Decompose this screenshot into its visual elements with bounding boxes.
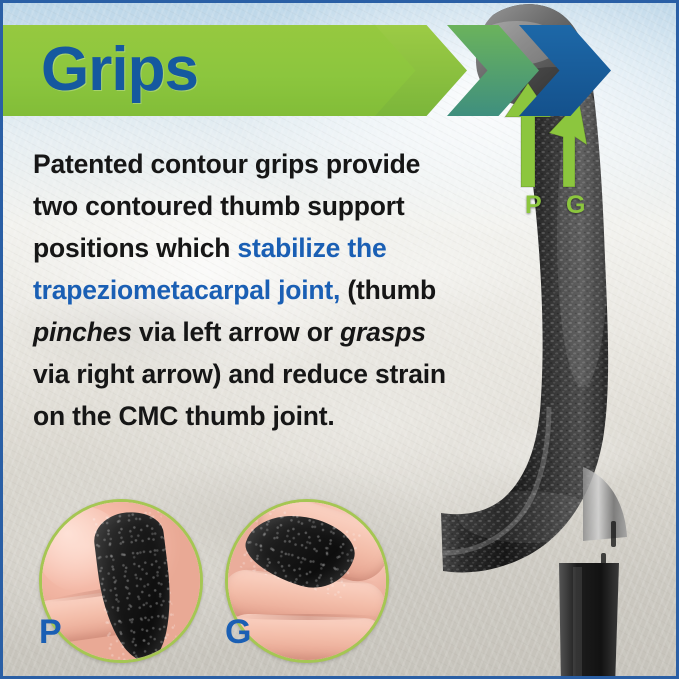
- page-title: Grips: [41, 38, 198, 100]
- skin-crease: [236, 614, 380, 620]
- header-banner: Grips: [3, 25, 643, 116]
- copy-line-4-lead: which: [156, 233, 237, 263]
- inset-photo-pinch: [39, 499, 203, 663]
- copy-line-9: CMC thumb joint.: [118, 401, 334, 431]
- grip-arrow-label-p: P: [525, 193, 542, 218]
- copy-line-1: Patented contour grips: [33, 149, 319, 179]
- inset-label-g: G: [225, 615, 251, 649]
- copy-line-7-tail: via right arrow): [33, 359, 221, 389]
- grip-arrow-label-g: G: [566, 193, 585, 218]
- infographic-canvas: P G Grips Patented contour grips provide…: [0, 0, 679, 679]
- inset-label-p: P: [39, 615, 62, 649]
- copy-highlight-1: stabilize the: [237, 233, 386, 263]
- copy-line-6-lead: (thumb: [347, 275, 436, 305]
- copy-italic-pinches: pinches: [33, 317, 132, 347]
- grip-collar: [583, 467, 627, 575]
- copy-line-7-lead: or: [307, 317, 340, 347]
- cane-shaft: [559, 563, 619, 679]
- description-text: Patented contour grips provide two conto…: [33, 143, 469, 437]
- copy-highlight-2: trapeziometacarpal joint,: [33, 275, 340, 305]
- copy-line-6-tail: via left arrow: [132, 317, 300, 347]
- copy-italic-grasps: grasps: [340, 317, 426, 347]
